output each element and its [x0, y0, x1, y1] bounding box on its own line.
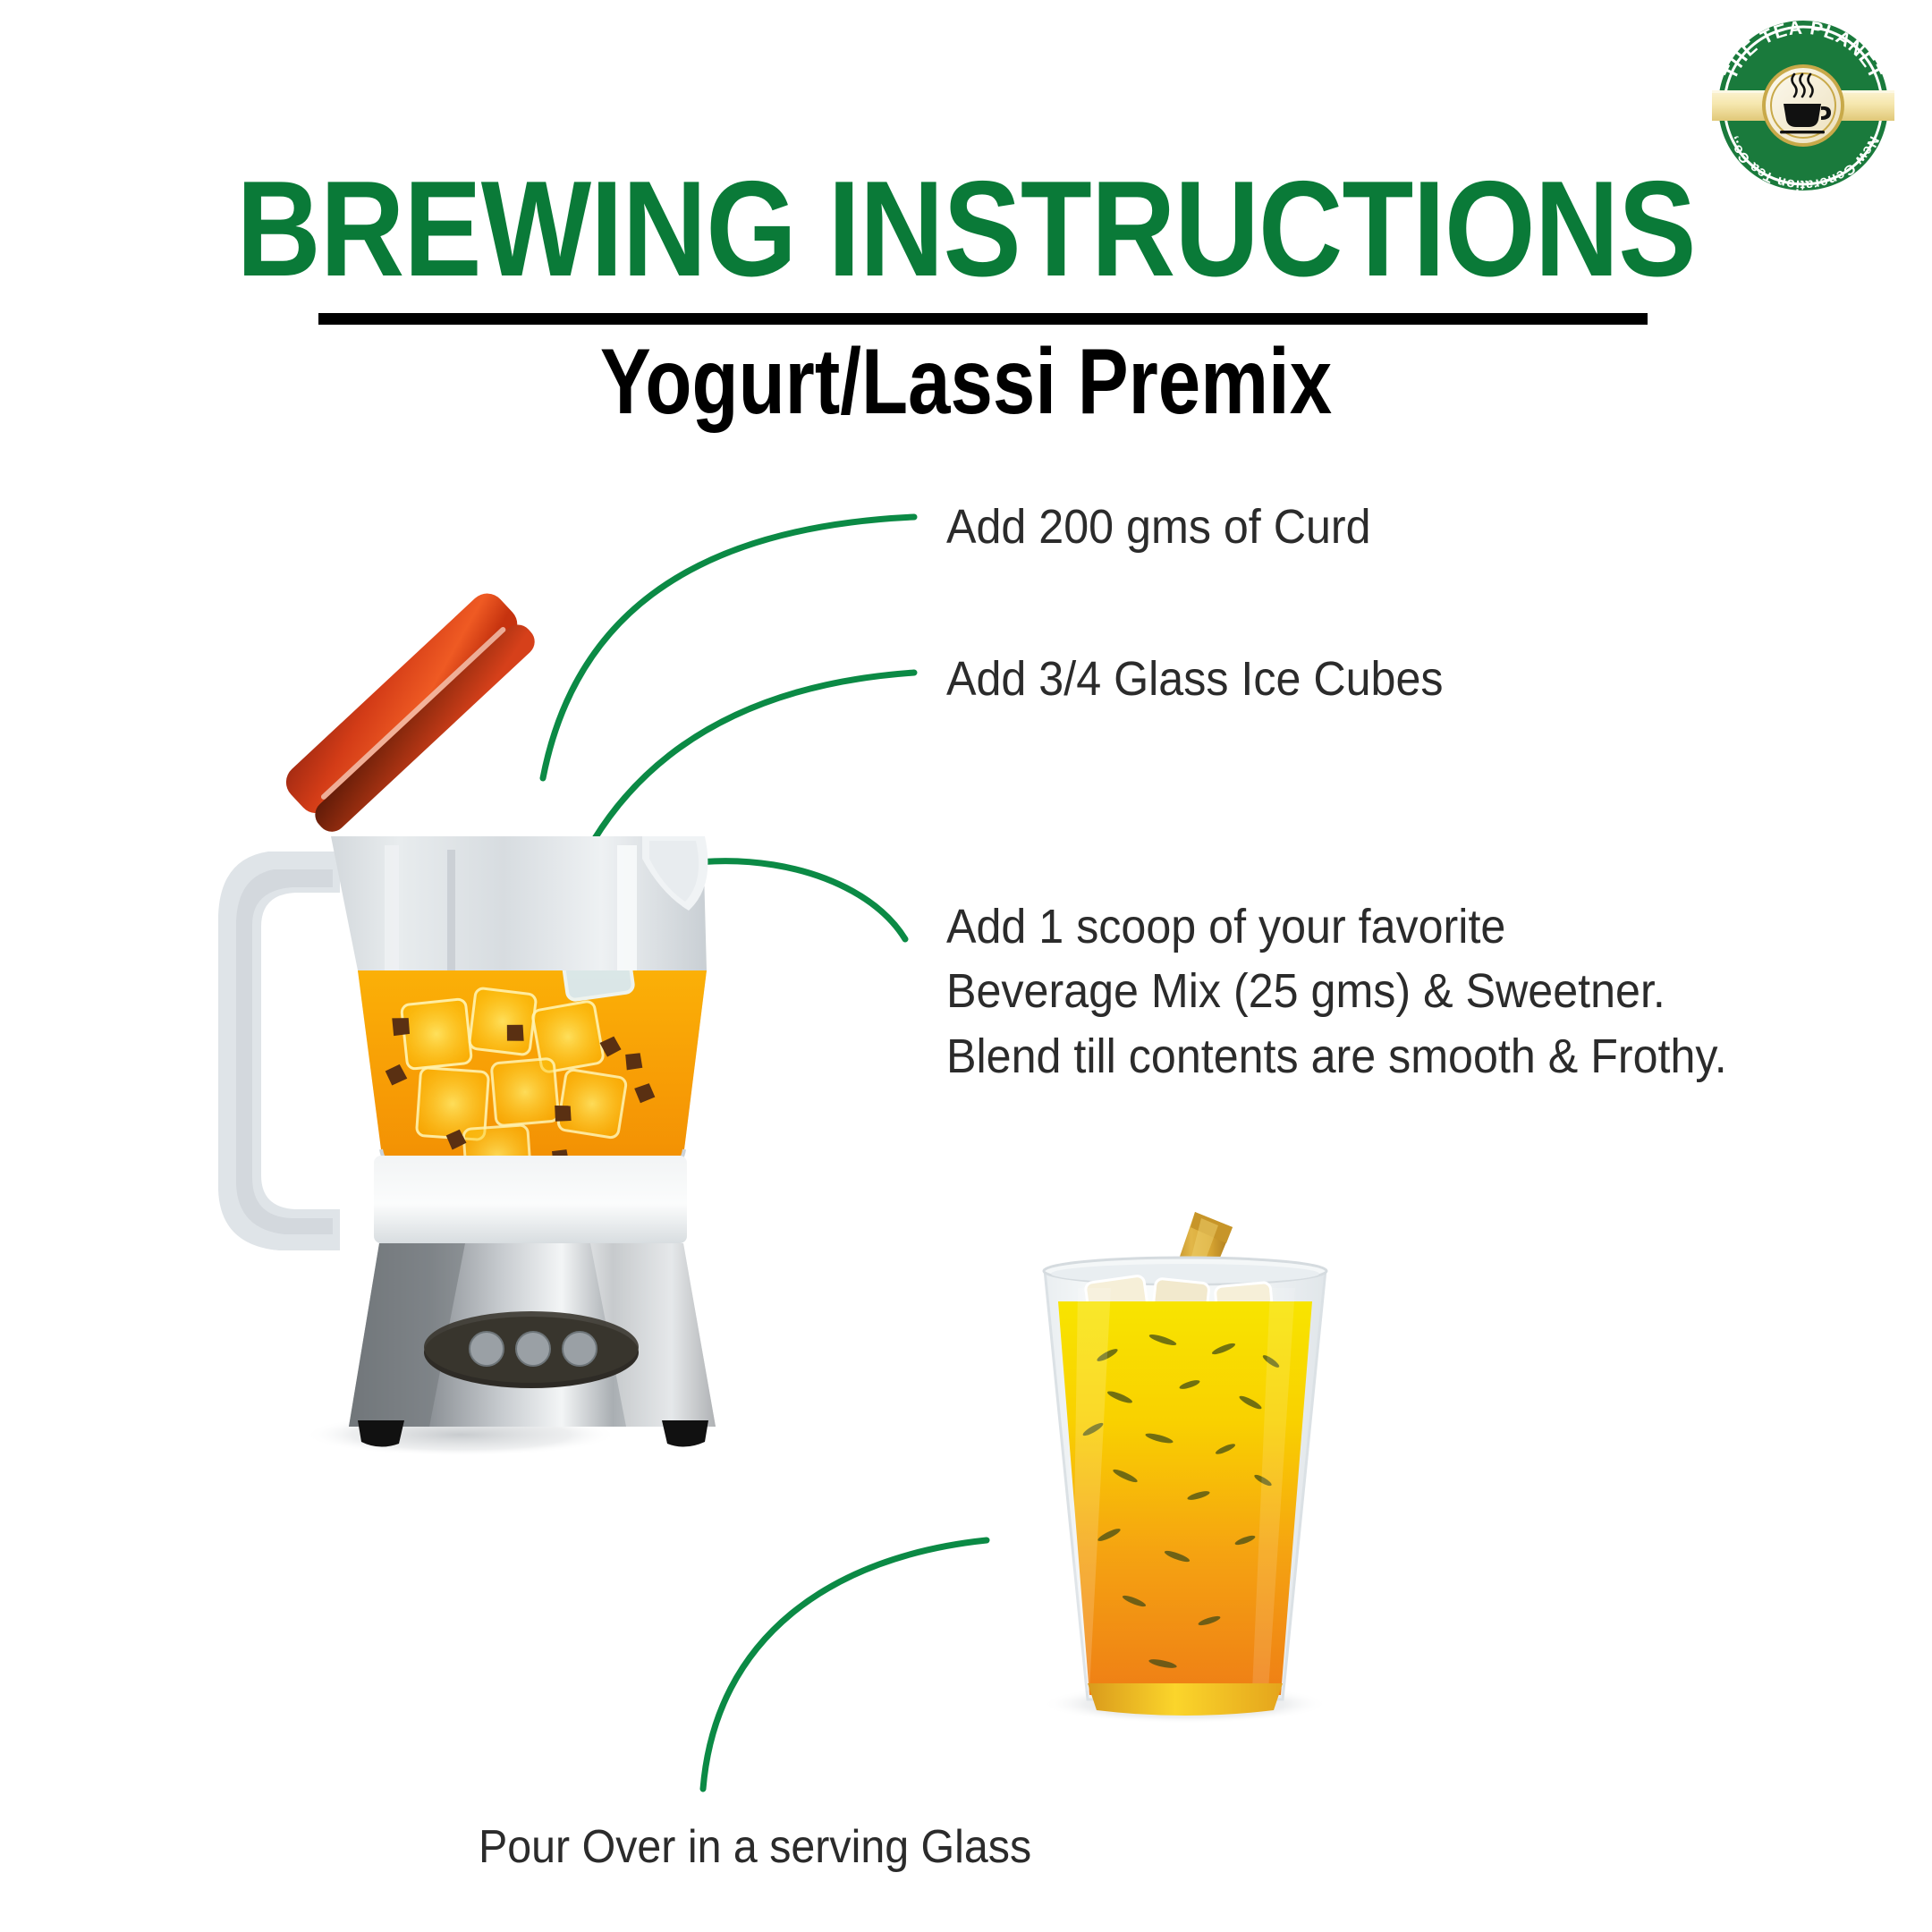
control-panel-inner [424, 1311, 639, 1383]
glass-cup-body [1045, 1270, 1326, 1699]
blender-ice-cubes [401, 926, 633, 1188]
glass-straw [1169, 1212, 1233, 1299]
connector-curve-4 [703, 1540, 987, 1789]
instruction-step-2: Add 3/4 Glass Ice Cubes [946, 647, 1444, 711]
blender-liquid [353, 970, 711, 1194]
blender-contents [353, 926, 711, 1194]
jar-bottom-edge [381, 1149, 684, 1181]
blender-buttons[interactable] [470, 1332, 597, 1366]
blender-base [349, 1243, 716, 1427]
glass-tea-specks [1081, 1333, 1281, 1670]
blender-button-1[interactable] [470, 1332, 504, 1366]
connector-curve-2 [549, 673, 914, 948]
connector-curve-3 [586, 861, 905, 939]
blender-spout-shade [649, 841, 699, 902]
title-underline-rule [318, 313, 1648, 325]
glass-sheen-right [1252, 1288, 1295, 1690]
blender-handle [218, 852, 340, 1250]
instruction-step-1: Add 200 gms of Curd [946, 495, 1371, 559]
poster-canvas: THE TEA PLANET New Generation Tea Co., B… [0, 0, 1932, 1932]
glass-rim-inner [1051, 1264, 1319, 1284]
page-subtitle: Yogurt/Lassi Premix [174, 331, 1758, 433]
glass-shadow [1042, 1684, 1328, 1724]
glass-rim [1044, 1258, 1326, 1284]
base-right-highlight [590, 1243, 716, 1427]
glass-sheen-left [1072, 1288, 1111, 1690]
jar-highlight-c [617, 845, 637, 1149]
instruction-step-3: Add 1 scoop of your favorite Beverage Mi… [946, 894, 1727, 1089]
serving-glass-illustration [1038, 1212, 1342, 1724]
glass-drink [1038, 1297, 1342, 1708]
jar-highlight-b [447, 850, 455, 1082]
connector-curves [543, 517, 987, 1789]
blender-foot-right [662, 1420, 708, 1447]
blender-control-panel [424, 1317, 639, 1388]
blender-foot-left [358, 1420, 404, 1447]
lid-edge-highlight [320, 626, 507, 801]
blender-spout [642, 836, 708, 911]
connector-curve-1 [543, 517, 914, 778]
glass-ice-cubes [1085, 1275, 1274, 1328]
blender-jar [331, 836, 707, 1181]
jar-highlight-a [385, 845, 399, 1140]
page-title: BREWING INSTRUCTIONS [135, 161, 1797, 297]
base-left-shade [349, 1243, 465, 1427]
glass-base-ring [1088, 1683, 1283, 1716]
blender-collar [374, 1156, 687, 1243]
lid-top-face [279, 586, 525, 820]
blender-shadow [304, 1413, 617, 1456]
blender-tea-flecks [385, 1014, 656, 1168]
blender-button-3[interactable] [563, 1332, 597, 1366]
blender-lid [279, 586, 541, 837]
lid-side-face [309, 619, 541, 838]
blender-button-2[interactable] [516, 1332, 550, 1366]
blender-illustration [218, 586, 716, 1456]
instruction-step-4: Pour Over in a serving Glass [479, 1817, 1031, 1879]
